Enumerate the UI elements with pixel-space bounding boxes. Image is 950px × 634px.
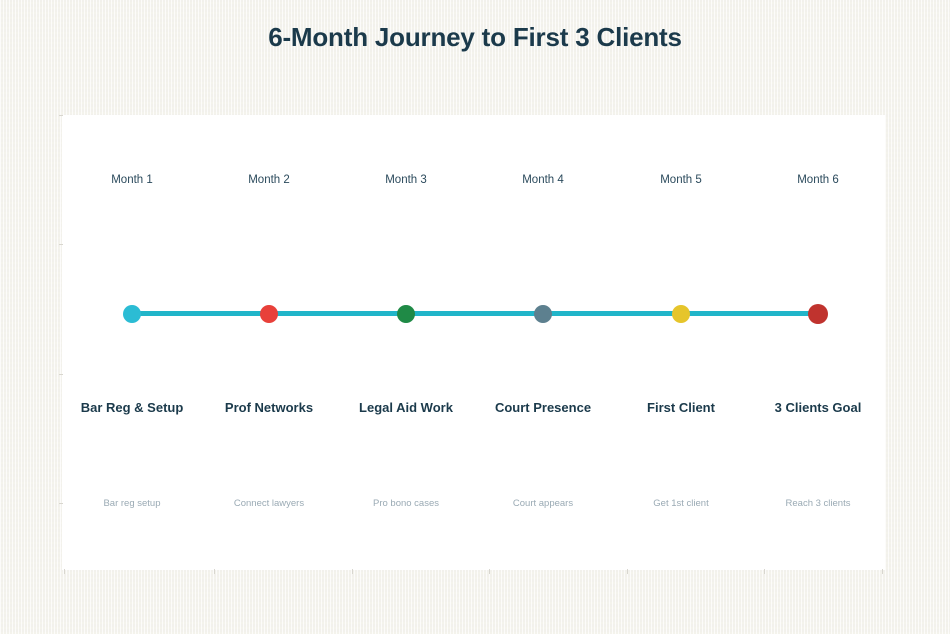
milestone-6[interactable]: Month 63 Clients GoalReach 3 clients	[733, 115, 903, 570]
milestone-list: Month 1Bar Reg & SetupBar reg setupMonth…	[62, 115, 885, 570]
milestone-dot-icon[interactable]	[672, 305, 690, 323]
milestone-month-label: Month 6	[733, 174, 903, 186]
milestone-subtitle: Reach 3 clients	[733, 498, 903, 509]
page-title: 6-Month Journey to First 3 Clients	[0, 22, 950, 53]
milestone-dot-icon[interactable]	[123, 305, 141, 323]
milestone-dot-icon[interactable]	[260, 305, 278, 323]
milestone-dot-icon[interactable]	[808, 304, 828, 324]
milestone-dot-icon[interactable]	[397, 305, 415, 323]
timeline-card: Month 1Bar Reg & SetupBar reg setupMonth…	[62, 115, 885, 570]
milestone-title: 3 Clients Goal	[733, 400, 903, 415]
milestone-dot-icon[interactable]	[534, 305, 552, 323]
